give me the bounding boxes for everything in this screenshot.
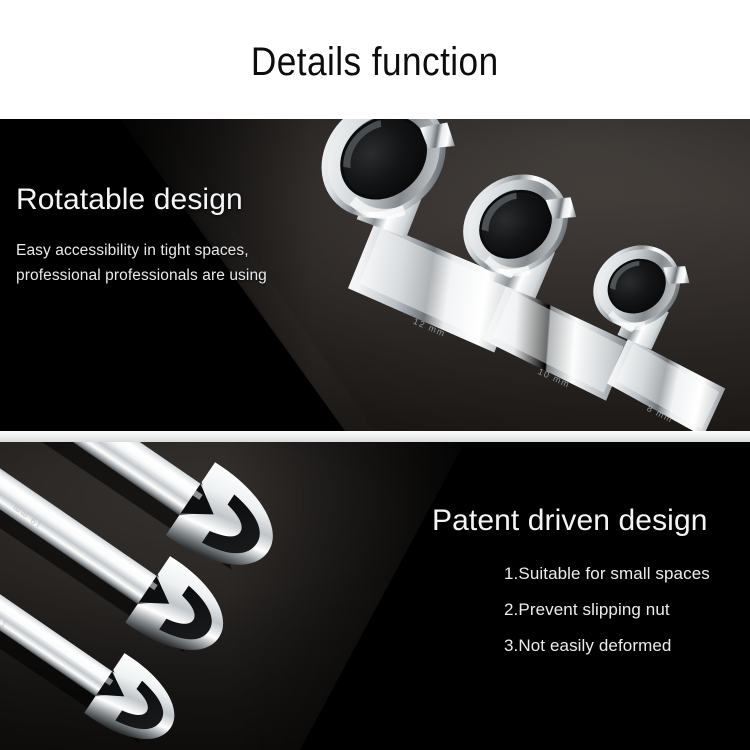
panel-divider	[0, 431, 750, 442]
wrench-22mm: CHROME 22 mm	[0, 442, 293, 588]
page-header: Details function	[0, 0, 750, 119]
svg-text:10 mm: 10 mm	[536, 366, 572, 390]
wrench-medium: 10 mm	[415, 148, 668, 431]
patent-feature-list: 1.Suitable for small spaces 2.Prevent sl…	[432, 564, 742, 656]
svg-text:19 mm: 19 mm	[10, 502, 44, 530]
wrench-small: 8 mm	[554, 225, 750, 431]
product-detail-page: Details function	[0, 0, 750, 750]
feature-list-item: 3.Not easily deformed	[504, 636, 742, 656]
panel-rotatable-design: 12 mm 1	[0, 119, 750, 431]
page-title: Details function	[251, 42, 499, 82]
wrench-17mm: CHROME 17 mm	[0, 442, 191, 750]
rotatable-body-text: Easy accessibility in tight spaces, prof…	[16, 238, 316, 288]
patent-headline: Patent driven design	[432, 504, 742, 538]
svg-text:17 mm: 17 mm	[0, 602, 9, 630]
panel-patent-driven-design: CHROME 22 mm CHROME 19 mm	[0, 442, 750, 750]
feature-list-item: 2.Prevent slipping nut	[504, 600, 742, 620]
rotatable-copy-block: Rotatable design Easy accessibility in t…	[16, 183, 316, 288]
open-end-wrench-set-image: CHROME 22 mm CHROME 19 mm	[0, 442, 480, 750]
flex-head-wrench-set-image: 12 mm 1	[255, 119, 750, 431]
wrench-19mm: CHROME 19 mm	[0, 442, 241, 671]
feature-list-item: 1.Suitable for small spaces	[504, 564, 742, 584]
rotatable-headline: Rotatable design	[16, 183, 316, 217]
svg-text:8 mm: 8 mm	[645, 403, 675, 425]
svg-text:12 mm: 12 mm	[412, 316, 448, 339]
patent-copy-block: Patent driven design 1.Suitable for smal…	[432, 504, 742, 656]
